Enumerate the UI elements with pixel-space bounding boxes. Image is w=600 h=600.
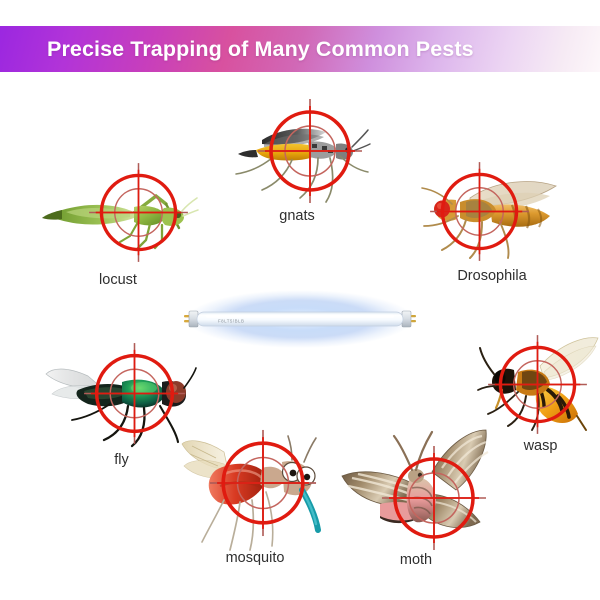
pest-label-drosophila: Drosophila [412, 268, 572, 284]
lamp-tube-svg: F8LT5/BLB [176, 286, 424, 352]
lamp-tube-marking: F8LT5/BLB [218, 318, 244, 323]
pest-card-drosophila: Drosophila [412, 158, 572, 290]
gnats-illustration [222, 100, 372, 208]
pest-card-moth: moth [336, 428, 496, 576]
crosshair-reticle-locust [89, 163, 188, 262]
pest-label-gnats: gnats [222, 208, 372, 224]
pest-card-wasp: wasp [478, 332, 600, 460]
pest-card-locust: locust [38, 160, 198, 290]
poster-canvas: Precise Trapping of Many Common Pests [0, 0, 600, 600]
header-banner: Precise Trapping of Many Common Pests [0, 26, 600, 72]
lamp-pin-right [411, 315, 416, 322]
wasp-illustration [478, 332, 600, 440]
pest-card-fly: fly [44, 342, 199, 477]
fly-body-art [46, 368, 196, 446]
pest-card-mosquito: mosquito [180, 424, 330, 574]
drosophila-illustration [412, 158, 572, 270]
crosshair-reticle-drosophila [430, 162, 529, 261]
crosshair-reticle-mosquito [210, 430, 316, 536]
pest-label-locust: locust [38, 272, 198, 288]
pest-card-gnats: gnats [222, 100, 372, 230]
pest-label-moth: moth [336, 552, 496, 568]
crosshair-reticle-fly [84, 343, 185, 444]
locust-illustration [38, 160, 198, 270]
pest-label-fly: fly [44, 452, 199, 468]
fly-illustration [44, 342, 199, 454]
mosquito-body-art [182, 436, 318, 550]
pest-label-mosquito: mosquito [180, 550, 330, 566]
pest-label-wasp: wasp [478, 438, 600, 454]
moth-illustration [336, 428, 496, 556]
uv-lamp-tube: F8LT5/BLB [176, 286, 424, 352]
mosquito-illustration [180, 424, 330, 554]
page-title: Precise Trapping of Many Common Pests [47, 26, 474, 72]
crosshair-reticle-gnats [258, 99, 362, 203]
